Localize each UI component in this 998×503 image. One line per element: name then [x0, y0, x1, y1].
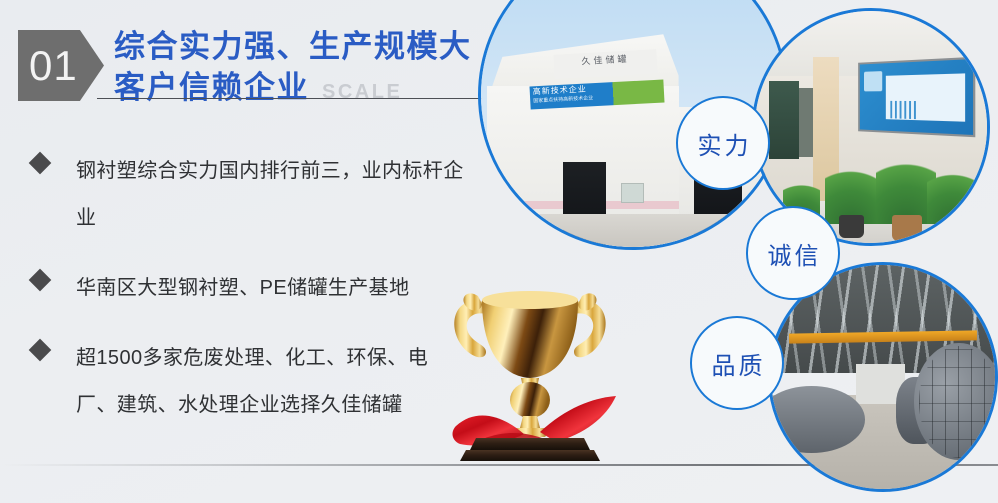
promo-banner: 01 综合实力强、生产规模大 客户信赖企业 SCALE 钢衬塑综合实力国内排行前… — [0, 0, 998, 503]
title-subtitle-en: SCALE — [322, 72, 402, 113]
honor-board — [859, 56, 976, 136]
trophy-base-bottom — [460, 450, 600, 461]
diamond-bullet-icon — [29, 269, 52, 292]
office-doorframe — [799, 88, 813, 158]
factory-window — [621, 183, 644, 203]
plant-pot — [839, 215, 865, 238]
list-item-line: 华南区大型钢衬塑、PE储罐生产基地 — [76, 265, 409, 312]
diamond-bullet-icon — [29, 339, 52, 362]
badge-strength: 实力 — [676, 96, 770, 190]
tank-support-frame — [919, 346, 998, 458]
trophy-stem — [520, 416, 540, 428]
list-item-text: 钢衬塑综合实力国内排行前三，业内标杆企业 — [76, 148, 466, 242]
diamond-bullet-icon — [29, 152, 52, 175]
list-item-line: 厂、建筑、水处理企业选择久佳储罐 — [76, 382, 428, 429]
page-title-line-2: 客户信赖企业 — [114, 67, 309, 108]
potted-plant — [927, 160, 978, 225]
ribbon-right — [540, 396, 616, 442]
page-title-line-1: 综合实力强、生产规模大 — [114, 26, 544, 67]
trophy-knop — [510, 382, 550, 418]
honor-board-chart — [891, 101, 920, 119]
honor-board-logo — [864, 71, 882, 91]
warehouse-art — [771, 265, 995, 489]
list-item-line: 钢衬塑综合实力国内排行前三，业内标杆企业 — [76, 148, 466, 242]
feature-list: 钢衬塑综合实力国内排行前三，业内标杆企业 华南区大型钢衬塑、PE储罐生产基地 超… — [20, 148, 480, 452]
factory-ground — [481, 214, 785, 247]
potted-plant — [825, 155, 876, 225]
list-item-text: 华南区大型钢衬塑、PE储罐生产基地 — [76, 265, 409, 312]
title-divider — [97, 98, 520, 99]
trophy-base-top — [470, 438, 590, 450]
plant-pot — [892, 215, 922, 241]
office-doorway — [769, 81, 799, 160]
list-item-line: 超1500多家危废处理、化工、环保、电 — [76, 335, 428, 382]
section-number-badge: 01 — [18, 30, 104, 101]
badge-honesty: 诚信 — [746, 206, 840, 300]
list-item: 超1500多家危废处理、化工、环保、电 厂、建筑、水处理企业选择久佳储罐 — [20, 335, 480, 429]
trophy-graphic — [420, 248, 640, 463]
list-item: 钢衬塑综合实力国内排行前三，业内标杆企业 — [20, 148, 480, 242]
list-item: 华南区大型钢衬塑、PE储罐生产基地 — [20, 265, 480, 312]
badge-quality: 品质 — [690, 316, 784, 410]
trophy-bowl — [482, 300, 578, 378]
heading-block: 01 综合实力强、生产规模大 客户信赖企业 SCALE — [18, 26, 538, 130]
list-item-text: 超1500多家危废处理、化工、环保、电 厂、建筑、水处理企业选择久佳储罐 — [76, 335, 428, 429]
sign-hi-tech-label: 高新技术企业 — [532, 84, 586, 96]
trophy-rim — [482, 291, 578, 309]
